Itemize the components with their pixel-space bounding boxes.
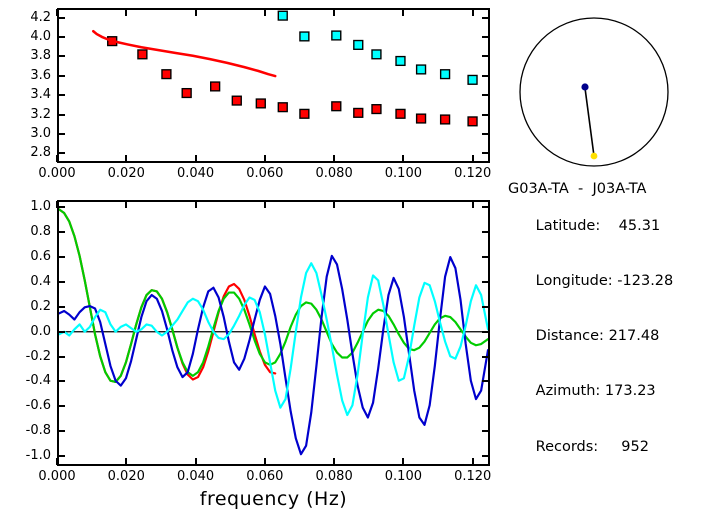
x-tick-label: 0.000 xyxy=(33,167,81,180)
x-tick-top xyxy=(125,201,127,208)
y-tick xyxy=(58,256,65,258)
x-tick-top xyxy=(472,9,474,16)
x-tick-label: 0.080 xyxy=(310,167,358,180)
x-tick xyxy=(264,155,266,162)
y-tick-right xyxy=(482,55,489,57)
y-tick-right xyxy=(482,36,489,38)
y-tick-right xyxy=(482,430,489,432)
x-tick-top xyxy=(264,201,266,208)
data-point-marker xyxy=(300,32,309,41)
x-tick xyxy=(472,155,474,162)
x-tick-label: 0.060 xyxy=(241,167,289,180)
data-point-marker xyxy=(300,109,309,118)
distance-label: Distance: xyxy=(536,328,604,344)
map-path-line xyxy=(585,88,594,156)
x-tick-top xyxy=(195,201,197,208)
data-point-marker xyxy=(332,102,341,111)
y-tick-right xyxy=(482,94,489,96)
y-tick-label: 4.0 xyxy=(1,30,51,43)
y-tick xyxy=(58,430,65,432)
records-value: 952 xyxy=(621,439,649,455)
y-tick-label: 0.8 xyxy=(1,225,51,238)
y-tick xyxy=(58,17,65,19)
y-tick xyxy=(58,94,65,96)
y-tick-right xyxy=(482,152,489,154)
map-circle-outline xyxy=(520,18,668,166)
y-tick-label: -0.4 xyxy=(1,374,51,387)
data-point-marker xyxy=(441,70,450,79)
y-tick-right xyxy=(482,17,489,19)
x-tick xyxy=(195,155,197,162)
data-point-marker xyxy=(354,108,363,117)
y-tick-right xyxy=(482,380,489,382)
azimuth-label: Azimuth: xyxy=(536,383,601,399)
y-tick-right xyxy=(482,206,489,208)
data-point-marker xyxy=(332,31,341,40)
y-tick-label: 0.0 xyxy=(1,325,51,338)
data-point-marker xyxy=(396,109,405,118)
x-tick xyxy=(402,458,404,465)
data-point-marker xyxy=(372,50,381,59)
series-line xyxy=(59,209,275,382)
x-tick-label: 0.100 xyxy=(379,167,427,180)
data-point-marker xyxy=(417,65,426,74)
data-point-marker xyxy=(417,114,426,123)
y-tick xyxy=(58,36,65,38)
dispersion-figure: 2.83.03.23.43.63.84.04.2 0.0000.0200.040… xyxy=(0,0,701,519)
y-tick-right xyxy=(482,356,489,358)
data-point-marker xyxy=(162,70,171,79)
y-tick-label: 4.2 xyxy=(1,11,51,24)
series-line xyxy=(59,263,488,415)
y-tick xyxy=(58,405,65,407)
dispersion-plot-area xyxy=(59,10,488,161)
data-point-marker xyxy=(256,99,265,108)
y-tick xyxy=(58,55,65,57)
y-tick xyxy=(58,114,65,116)
y-tick-label: 3.2 xyxy=(1,108,51,121)
data-point-marker xyxy=(138,50,147,59)
y-tick xyxy=(58,231,65,233)
waveform-plot xyxy=(57,200,490,466)
data-point-marker xyxy=(372,105,381,114)
y-tick-label: 0.6 xyxy=(1,250,51,263)
station-pair-title: G03A-TA - J03A-TA xyxy=(508,180,701,198)
longitude-value: -123.28 xyxy=(617,273,673,289)
x-tick-top xyxy=(402,9,404,16)
y-tick-right xyxy=(482,133,489,135)
waveform-plot-area xyxy=(59,202,488,464)
x-tick xyxy=(472,458,474,465)
azimuth-row: Azimuth: 173.23 xyxy=(508,364,701,419)
azimuth-value: 173.23 xyxy=(605,383,656,399)
series-line xyxy=(59,209,488,382)
x-tick-label: 0.040 xyxy=(172,167,220,180)
x-tick-label: 0.080 xyxy=(310,470,358,483)
y-tick-label: 3.6 xyxy=(1,69,51,82)
records-row: Records: 952 xyxy=(508,419,701,474)
y-tick-right xyxy=(482,114,489,116)
y-tick-label: -0.8 xyxy=(1,424,51,437)
records-spacer xyxy=(598,439,621,455)
x-tick-top xyxy=(56,9,58,16)
x-tick-label: 0.120 xyxy=(449,470,497,483)
y-tick-label: 0.2 xyxy=(1,300,51,313)
y-tick-label: 3.4 xyxy=(1,88,51,101)
y-tick-right xyxy=(482,405,489,407)
y-tick xyxy=(58,75,65,77)
y-tick-label: 3.0 xyxy=(1,127,51,140)
x-tick-top xyxy=(125,9,127,16)
x-tick-label: 0.060 xyxy=(241,470,289,483)
x-tick-top xyxy=(264,9,266,16)
station-info-panel: G03A-TA - J03A-TA Latitude: 45.31 Longit… xyxy=(508,180,701,292)
station-pair-map xyxy=(505,4,701,176)
map-edge-station-dot xyxy=(591,153,598,160)
x-tick-label: 0.100 xyxy=(379,470,427,483)
distance-value: 217.48 xyxy=(609,328,660,344)
x-tick-label: 0.040 xyxy=(172,470,220,483)
x-tick-label: 0.020 xyxy=(102,167,150,180)
latitude-label: Latitude: xyxy=(536,218,601,234)
map-center-station-dot xyxy=(581,83,588,90)
records-label: Records: xyxy=(536,439,599,455)
x-tick xyxy=(402,155,404,162)
y-tick xyxy=(58,380,65,382)
series-line xyxy=(93,31,275,76)
y-tick-label: 2.8 xyxy=(1,146,51,159)
y-tick-right xyxy=(482,256,489,258)
x-tick xyxy=(195,458,197,465)
data-point-marker xyxy=(232,96,241,105)
y-tick xyxy=(58,152,65,154)
x-tick-label: 0.120 xyxy=(449,167,497,180)
x-tick-label: 0.000 xyxy=(33,470,81,483)
y-tick-right xyxy=(482,306,489,308)
x-tick-top xyxy=(472,201,474,208)
x-tick-top xyxy=(195,9,197,16)
x-tick xyxy=(333,155,335,162)
x-tick-top xyxy=(333,201,335,208)
latitude-spacer xyxy=(600,218,618,234)
y-tick xyxy=(58,331,65,333)
x-tick xyxy=(264,458,266,465)
dispersion-plot xyxy=(57,8,490,163)
x-tick xyxy=(56,155,58,162)
data-point-marker xyxy=(441,115,450,124)
x-tick-top xyxy=(333,9,335,16)
y-tick-right xyxy=(482,281,489,283)
y-tick xyxy=(58,206,65,208)
x-tick-label: 0.020 xyxy=(102,470,150,483)
y-tick-label: 0.4 xyxy=(1,275,51,288)
data-point-marker xyxy=(354,41,363,50)
x-axis-title: frequency (Hz) xyxy=(57,488,490,510)
y-tick-label: -1.0 xyxy=(1,449,51,462)
x-tick xyxy=(56,458,58,465)
y-tick-right xyxy=(482,231,489,233)
data-point-marker xyxy=(396,57,405,66)
data-point-marker xyxy=(278,103,287,112)
latitude-value: 45.31 xyxy=(619,218,661,234)
y-tick-right xyxy=(482,331,489,333)
y-tick xyxy=(58,306,65,308)
y-tick xyxy=(58,455,65,457)
y-tick-right xyxy=(482,75,489,77)
data-point-marker xyxy=(211,82,220,91)
data-point-marker xyxy=(278,11,287,20)
y-tick xyxy=(58,356,65,358)
y-tick xyxy=(58,281,65,283)
y-tick-label: 3.8 xyxy=(1,49,51,62)
y-tick-label: 1.0 xyxy=(1,200,51,213)
y-tick-label: -0.2 xyxy=(1,350,51,363)
x-tick xyxy=(125,155,127,162)
longitude-label: Longitude: xyxy=(536,273,613,289)
data-point-marker xyxy=(182,89,191,98)
data-point-marker xyxy=(468,117,477,126)
y-tick-label: -0.6 xyxy=(1,399,51,412)
x-tick xyxy=(333,458,335,465)
y-tick xyxy=(58,133,65,135)
longitude-row: Longitude: -123.28 xyxy=(508,254,701,309)
y-tick-right xyxy=(482,455,489,457)
latitude-row: Latitude: 45.31 xyxy=(508,198,701,253)
x-tick-top xyxy=(402,201,404,208)
data-point-marker xyxy=(468,75,477,84)
distance-row: Distance: 217.48 xyxy=(508,309,701,364)
x-tick xyxy=(125,458,127,465)
